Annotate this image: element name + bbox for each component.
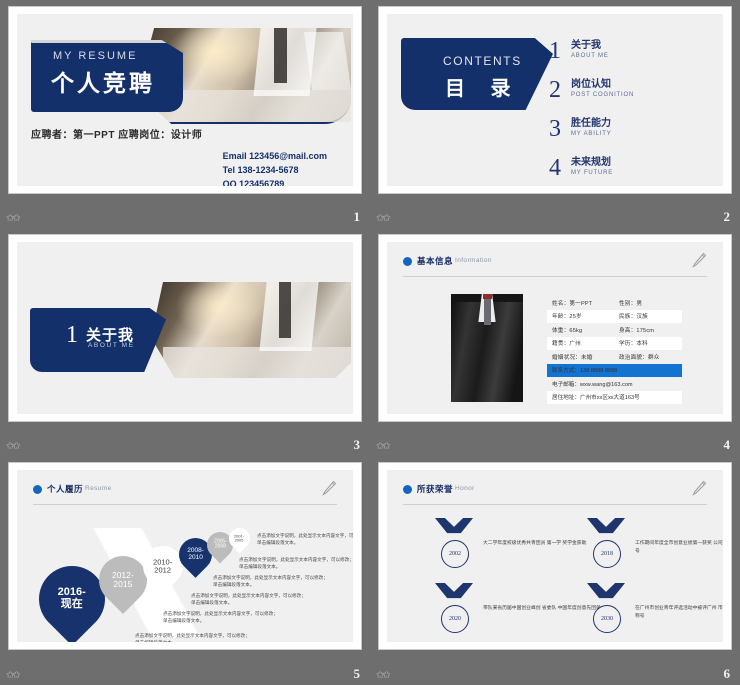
slide-cell-4: 基本信息 Information 姓名：第一PPT 性 — [370, 228, 740, 456]
slide-4-footer: ✩✩ 4 — [370, 428, 740, 456]
honor-medal-4: 2030 — [583, 583, 629, 639]
title-banner-cn: 个人竞聘 — [51, 64, 155, 98]
contact-email: Email 123456@mail.com — [223, 149, 327, 163]
title-banner-en: MY RESUME — [53, 50, 137, 62]
slide-1-canvas: MY RESUME 个人竞聘 应聘者：第一PPT 应聘岗位：设计师 Email … — [17, 14, 353, 186]
timeline-pin-label: 2001-2005 — [234, 534, 244, 542]
honor-medal-1: 2002 — [431, 518, 477, 574]
medal-year-badge: 2018 — [593, 540, 621, 568]
medal-year-badge: 2030 — [593, 605, 621, 633]
favorite-stars-icon[interactable]: ✩✩ — [376, 442, 389, 452]
section-number: 1 — [66, 322, 78, 349]
page-number: 4 — [724, 437, 731, 453]
table-row: 姓名：第一PPT 性别：男 — [547, 296, 682, 310]
header-title-en: Information — [455, 257, 492, 264]
honor-medal-2: 2018 — [583, 518, 629, 574]
bullet-dot-icon — [403, 257, 412, 266]
section-photo — [151, 282, 351, 378]
info-label-name: 姓名：第一PPT — [547, 299, 614, 307]
slide-5[interactable]: 个人履历 Resume 2016-现在 2012-2015 — [8, 462, 362, 650]
photo-desk — [163, 347, 351, 378]
timeline-entry-text: 点击添加文字说明，此处显示文本内容文字，可以修改；单击编辑段落文本。 — [239, 556, 353, 570]
contents-item-label-en: POST COGNITION — [571, 92, 634, 98]
slide-cell-1: MY RESUME 个人竞聘 应聘者：第一PPT 应聘岗位：设计师 Email … — [0, 0, 370, 228]
slide-6[interactable]: 所获荣誉 Honor 2002 大二学年度校级优秀共青团员 第一学 奖学金获助 — [378, 462, 732, 650]
contents-item-number: 1 — [549, 40, 571, 62]
table-row: 婚姻状况：未婚 政治面貌：群众 — [547, 350, 682, 364]
contents-item-label-cn: 关于我 — [571, 40, 609, 51]
pencil-icon — [691, 252, 707, 272]
slide-cell-6: 所获荣誉 Honor 2002 大二学年度校级优秀共青团员 第一学 奖学金获助 — [370, 456, 740, 685]
contact-block: Email 123456@mail.com Tel 138-1234-5678 … — [223, 149, 327, 186]
medal-year: 2018 — [601, 551, 613, 557]
info-label-hometown: 籍贯：广州 — [547, 339, 614, 347]
slide-cell-3: 1 关于我 ABOUT ME ✩✩ 3 — [0, 228, 370, 456]
medal-year-badge: 2002 — [441, 540, 469, 568]
timeline-pin-label: 2005-2008 — [214, 540, 227, 551]
table-row: 居住地址：广州市xx区xx大道163号 — [547, 391, 682, 405]
medal-year-badge: 2020 — [441, 605, 469, 633]
info-label-ethnicity: 民族：汉族 — [614, 312, 682, 320]
contents-item-label-cn: 胜任能力 — [571, 118, 612, 129]
timeline-pin-label: 2012-2015 — [112, 571, 134, 589]
applicant-subtitle: 应聘者：第一PPT 应聘岗位：设计师 — [31, 126, 202, 141]
pencil-icon — [691, 480, 707, 500]
slide-cell-5: 个人履历 Resume 2016-现在 2012-2015 — [0, 456, 370, 685]
table-row: 体重：65kg 身高：175cm — [547, 323, 682, 337]
table-row-highlighted: 联系方式：138 8888 8888 — [547, 364, 682, 378]
info-label-age: 年龄：25岁 — [547, 312, 614, 320]
contents-banner-cn: 目 录 — [445, 72, 521, 101]
honor-medal-3: 2020 — [431, 583, 477, 639]
slide-5-footer: ✩✩ 5 — [0, 657, 370, 685]
photo-shirt-2 — [304, 32, 351, 90]
bullet-dot-icon — [403, 485, 412, 494]
contents-item-number: 3 — [549, 118, 571, 140]
contents-banner-en: CONTENTS — [443, 54, 522, 68]
slide-3-footer: ✩✩ 3 — [0, 428, 370, 456]
page-number: 3 — [354, 437, 361, 453]
timeline-pin-label: 2010-2012 — [153, 558, 172, 574]
photo-tie — [274, 28, 287, 83]
slide-2-canvas: CONTENTS 目 录 1 关于我 ABOUT ME 2 岗位认 — [387, 14, 723, 186]
favorite-stars-icon[interactable]: ✩✩ — [376, 671, 389, 681]
honor-text-4: 在广州市创业青年评选活动中被评广州 市十大杰出青年称号 — [635, 605, 723, 621]
header-title-en: Resume — [85, 485, 112, 492]
info-label-address: 居住地址：广州市xx区xx大道163号 — [547, 393, 640, 401]
slide-6-canvas: 所获荣誉 Honor 2002 大二学年度校级优秀共青团员 第一学 奖学金获助 — [387, 470, 723, 642]
slide-4-canvas: 基本信息 Information 姓名：第一PPT 性 — [387, 242, 723, 414]
basic-info-table: 姓名：第一PPT 性别：男 年龄：25岁 民族：汉族 体重：65kg 身高：17… — [547, 296, 682, 404]
contents-item-3[interactable]: 3 胜任能力 MY ABILITY — [549, 118, 699, 140]
page-number: 6 — [724, 666, 731, 682]
header-title-cn: 所获荣誉 — [417, 483, 453, 495]
medal-year: 2002 — [449, 551, 461, 557]
contents-item-label-en: MY ABILITY — [571, 131, 612, 137]
medal-year: 2030 — [601, 616, 613, 622]
page-number: 2 — [724, 209, 731, 225]
info-label-height: 身高：175cm — [614, 326, 682, 334]
slide-4[interactable]: 基本信息 Information 姓名：第一PPT 性 — [378, 234, 732, 422]
contents-item-1[interactable]: 1 关于我 ABOUT ME — [549, 40, 699, 62]
contents-item-number: 2 — [549, 79, 571, 101]
timeline-entry-text: 点击添加文字说明，此处显示文本内容文字，可以修改；单击编辑段落文本。 — [135, 632, 253, 642]
page-number: 1 — [354, 209, 361, 225]
pencil-icon — [321, 480, 337, 500]
info-label-email: 电子邮箱：wxw.wang@163.com — [547, 380, 633, 388]
photo-necktie — [484, 297, 490, 325]
portrait-photo — [451, 294, 523, 402]
bullet-dot-icon — [33, 485, 42, 494]
timeline-entry-text: 点击添加文字说明，此处显示文本内容文字，可以修改；单击编辑段落文本。 — [257, 532, 353, 546]
contents-item-label-cn: 未来规划 — [571, 157, 613, 168]
contents-item-label-en: ABOUT ME — [571, 53, 609, 59]
contents-item-label-cn: 岗位认知 — [571, 79, 634, 90]
info-label-gender: 性别：男 — [614, 299, 682, 307]
info-label-weight: 体重：65kg — [547, 326, 614, 334]
header-title-cn: 个人履历 — [47, 483, 83, 495]
info-label-contact: 联系方式：138 8888 8888 — [547, 366, 617, 374]
favorite-stars-icon[interactable]: ✩✩ — [6, 671, 19, 681]
table-row: 电子邮箱：wxw.wang@163.com — [547, 377, 682, 391]
slide-cell-2: CONTENTS 目 录 1 关于我 ABOUT ME 2 岗位认 — [370, 0, 740, 228]
favorite-stars-icon[interactable]: ✩✩ — [376, 214, 389, 224]
contact-qq: QQ 123456789 — [223, 177, 327, 186]
slide-1-footer: ✩✩ 1 — [0, 200, 370, 228]
contents-list: 1 关于我 ABOUT ME 2 岗位认知 POST COGNITION — [549, 40, 699, 186]
section-title-en: ABOUT ME — [88, 342, 135, 349]
timeline-entry-text: 点击添加文字说明，此处显示文本内容文字，可以修改；单击编辑段落文本。 — [191, 592, 309, 606]
contents-item-2[interactable]: 2 岗位认知 POST COGNITION — [549, 79, 699, 101]
medal-year: 2020 — [449, 616, 461, 622]
contents-item-label-en: MY FUTURE — [571, 170, 613, 176]
table-row: 籍贯：广州 学历：本科 — [547, 337, 682, 351]
slide-thumbnail-grid: MY RESUME 个人竞聘 应聘者：第一PPT 应聘岗位：设计师 Email … — [0, 0, 740, 685]
header-title-cn: 基本信息 — [417, 255, 453, 267]
title-banner: MY RESUME 个人竞聘 — [31, 40, 183, 112]
slide-4-header: 基本信息 Information — [403, 254, 707, 277]
timeline-pin-label: 2016-现在 — [58, 587, 86, 610]
info-label-political: 政治面貌：群众 — [614, 353, 682, 361]
info-label-education: 学历：本科 — [614, 339, 682, 347]
slide-5-canvas: 个人履历 Resume 2016-现在 2012-2015 — [17, 470, 353, 642]
photo-tie — [279, 282, 291, 338]
table-row: 年龄：25岁 民族：汉族 — [547, 310, 682, 324]
page-number: 5 — [354, 666, 361, 682]
section-banner: 1 关于我 ABOUT ME — [30, 308, 166, 372]
slide-6-header: 所获荣誉 Honor — [403, 482, 707, 505]
slide-3[interactable]: 1 关于我 ABOUT ME — [8, 234, 362, 422]
timeline: 2016-现在 2012-2015 2010-2012 2008-2010 20… — [17, 500, 353, 642]
timeline-entry-text: 点击添加文字说明，此处显示文本内容文字，可以修改；单击编辑段落文本。 — [213, 574, 331, 588]
favorite-stars-icon[interactable]: ✩✩ — [6, 442, 19, 452]
contents-item-number: 4 — [549, 157, 571, 179]
header-title-en: Honor — [455, 485, 475, 492]
timeline-entry-text: 点击添加文字说明，此处显示文本内容文字，可以修改；单击编辑段落文本。 — [163, 610, 281, 624]
favorite-stars-icon[interactable]: ✩✩ — [6, 214, 19, 224]
timeline-pin-label: 2008-2010 — [187, 548, 204, 562]
slide-6-footer: ✩✩ 6 — [370, 657, 740, 685]
contents-banner: CONTENTS 目 录 — [401, 38, 553, 110]
photo-sun-glow — [175, 274, 263, 337]
slide-2-footer: ✩✩ 2 — [370, 200, 740, 228]
honor-text-2: 工作期间年度全市创意业绩第一获奖 公司最佳合伙人称号 — [635, 540, 723, 556]
slide-1[interactable]: MY RESUME 个人竞聘 应聘者：第一PPT 应聘岗位：设计师 Email … — [8, 6, 362, 194]
photo-collar-accent — [483, 294, 492, 299]
info-label-marital: 婚姻状况：未婚 — [547, 353, 614, 361]
contact-tel: Tel 138-1234-5678 — [223, 163, 327, 177]
contents-item-4[interactable]: 4 未来规划 MY FUTURE — [549, 157, 699, 179]
slide-3-canvas: 1 关于我 ABOUT ME — [17, 242, 353, 414]
slide-2[interactable]: CONTENTS 目 录 1 关于我 ABOUT ME 2 岗位认 — [378, 6, 732, 194]
